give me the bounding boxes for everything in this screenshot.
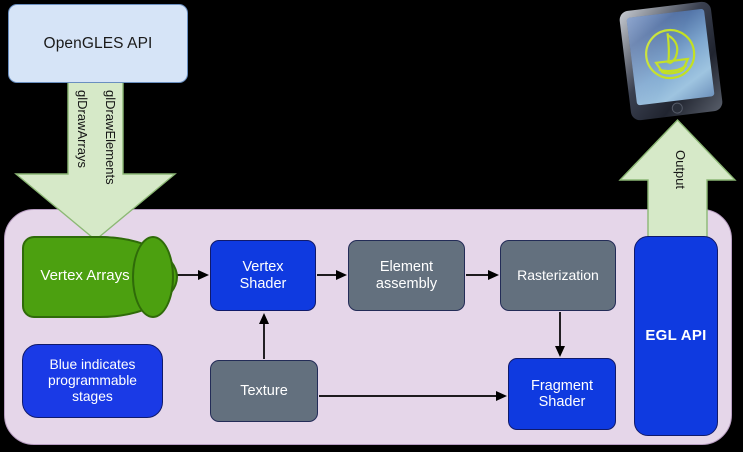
vertex-shader-label: Vertex Shader xyxy=(240,259,287,291)
fragment-shader-label: Fragment Shader xyxy=(531,378,593,410)
legend-text: Blue indicates programmable stages xyxy=(48,357,137,405)
vertex-arrays-label: Vertex Arrays xyxy=(40,267,155,284)
egl-api-label: EGL API xyxy=(645,328,706,345)
fragment-shader-line1: Fragment xyxy=(531,378,593,394)
legend-line1: Blue indicates xyxy=(50,357,136,372)
screen-gloss xyxy=(626,9,714,106)
stage-vertex-shader[interactable]: Vertex Shader xyxy=(210,240,316,311)
stage-vertex-arrays[interactable]: Vertex Arrays xyxy=(22,236,174,314)
opengles-api-label: OpenGLES API xyxy=(44,35,153,53)
vertex-shader-line2: Shader xyxy=(240,276,287,292)
opengles-api-box[interactable]: OpenGLES API xyxy=(8,4,188,83)
element-assembly-label: Element assembly xyxy=(376,259,437,291)
fragment-shader-line2: Shader xyxy=(539,394,586,410)
gldraw-arrow xyxy=(0,78,200,246)
output-label: Output xyxy=(673,150,688,189)
stage-texture[interactable]: Texture xyxy=(210,360,318,422)
stage-element-assembly[interactable]: Element assembly xyxy=(348,240,465,311)
output-arrow xyxy=(600,115,743,240)
gldrawarrays-label: glDrawArrays xyxy=(75,90,90,168)
stage-rasterization[interactable]: Rasterization xyxy=(500,240,616,311)
tablet-device xyxy=(612,0,730,126)
texture-label: Texture xyxy=(240,383,288,399)
gldrawelements-label: glDrawElements xyxy=(103,90,118,185)
stage-fragment-shader[interactable]: Fragment Shader xyxy=(508,358,616,430)
element-assembly-line2: assembly xyxy=(376,276,437,292)
stage-egl-api[interactable]: EGL API xyxy=(634,236,718,436)
legend-line2: programmable xyxy=(48,373,137,388)
vertex-shader-line1: Vertex xyxy=(242,259,283,275)
diagram-canvas: glDrawArrays glDrawElements Output OpenG… xyxy=(0,0,743,452)
legend-box: Blue indicates programmable stages xyxy=(22,344,163,418)
tablet-screen xyxy=(626,9,714,106)
rasterization-label: Rasterization xyxy=(517,268,599,284)
legend-line3: stages xyxy=(72,389,113,404)
element-assembly-line1: Element xyxy=(380,259,433,275)
